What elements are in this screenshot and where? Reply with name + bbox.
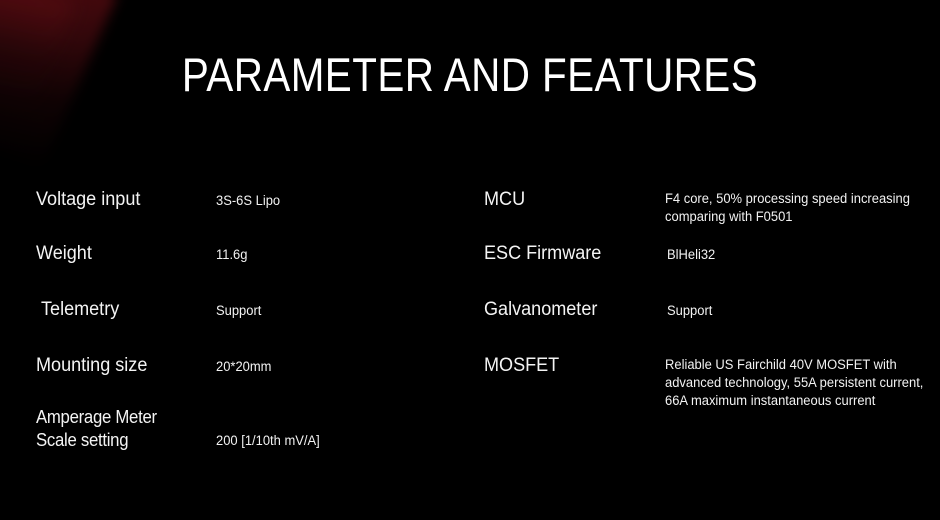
spec-label-mounting-size: Mounting size [36, 354, 147, 378]
spec-label-voltage-input: Voltage input [36, 188, 140, 212]
spec-value-esc-firmware: BlHeli32 [667, 246, 715, 264]
spec-label-mcu: MCU [484, 188, 525, 212]
spec-label-mosfet: MOSFET [484, 354, 559, 378]
spec-value-amperage-meter-scale-setting: 200 [1/10th mV/A] [216, 432, 320, 450]
spec-label-telemetry: Telemetry [41, 298, 119, 322]
spec-label-weight: Weight [36, 242, 92, 266]
spec-value-mosfet: Reliable US Fairchild 40V MOSFET with ad… [665, 356, 923, 410]
page-title: PARAMETER AND FEATURES [66, 47, 874, 103]
spec-value-weight: 11.6g [216, 246, 247, 264]
spec-value-telemetry: Support [216, 302, 261, 320]
spec-value-galvanometer: Support [667, 302, 712, 320]
spec-label-esc-firmware: ESC Firmware [484, 242, 601, 266]
spec-value-mcu: F4 core, 50% processing speed increasing… [665, 190, 910, 226]
spec-value-mounting-size: 20*20mm [216, 358, 271, 376]
spec-column-right: MCU F4 core, 50% processing speed increa… [484, 176, 940, 486]
spec-value-voltage-input: 3S-6S Lipo [216, 192, 280, 210]
slide-root: PARAMETER AND FEATURES Voltage input 3S-… [0, 0, 940, 520]
spec-label-galvanometer: Galvanometer [484, 298, 597, 322]
specifications-grid: Voltage input 3S-6S Lipo Weight 11.6g Te… [0, 176, 940, 486]
spec-column-left: Voltage input 3S-6S Lipo Weight 11.6g Te… [36, 176, 456, 486]
accent-wedge-secondary [0, 0, 75, 114]
spec-label-amperage-meter-scale-setting: Amperage Meter Scale setting [36, 406, 157, 452]
